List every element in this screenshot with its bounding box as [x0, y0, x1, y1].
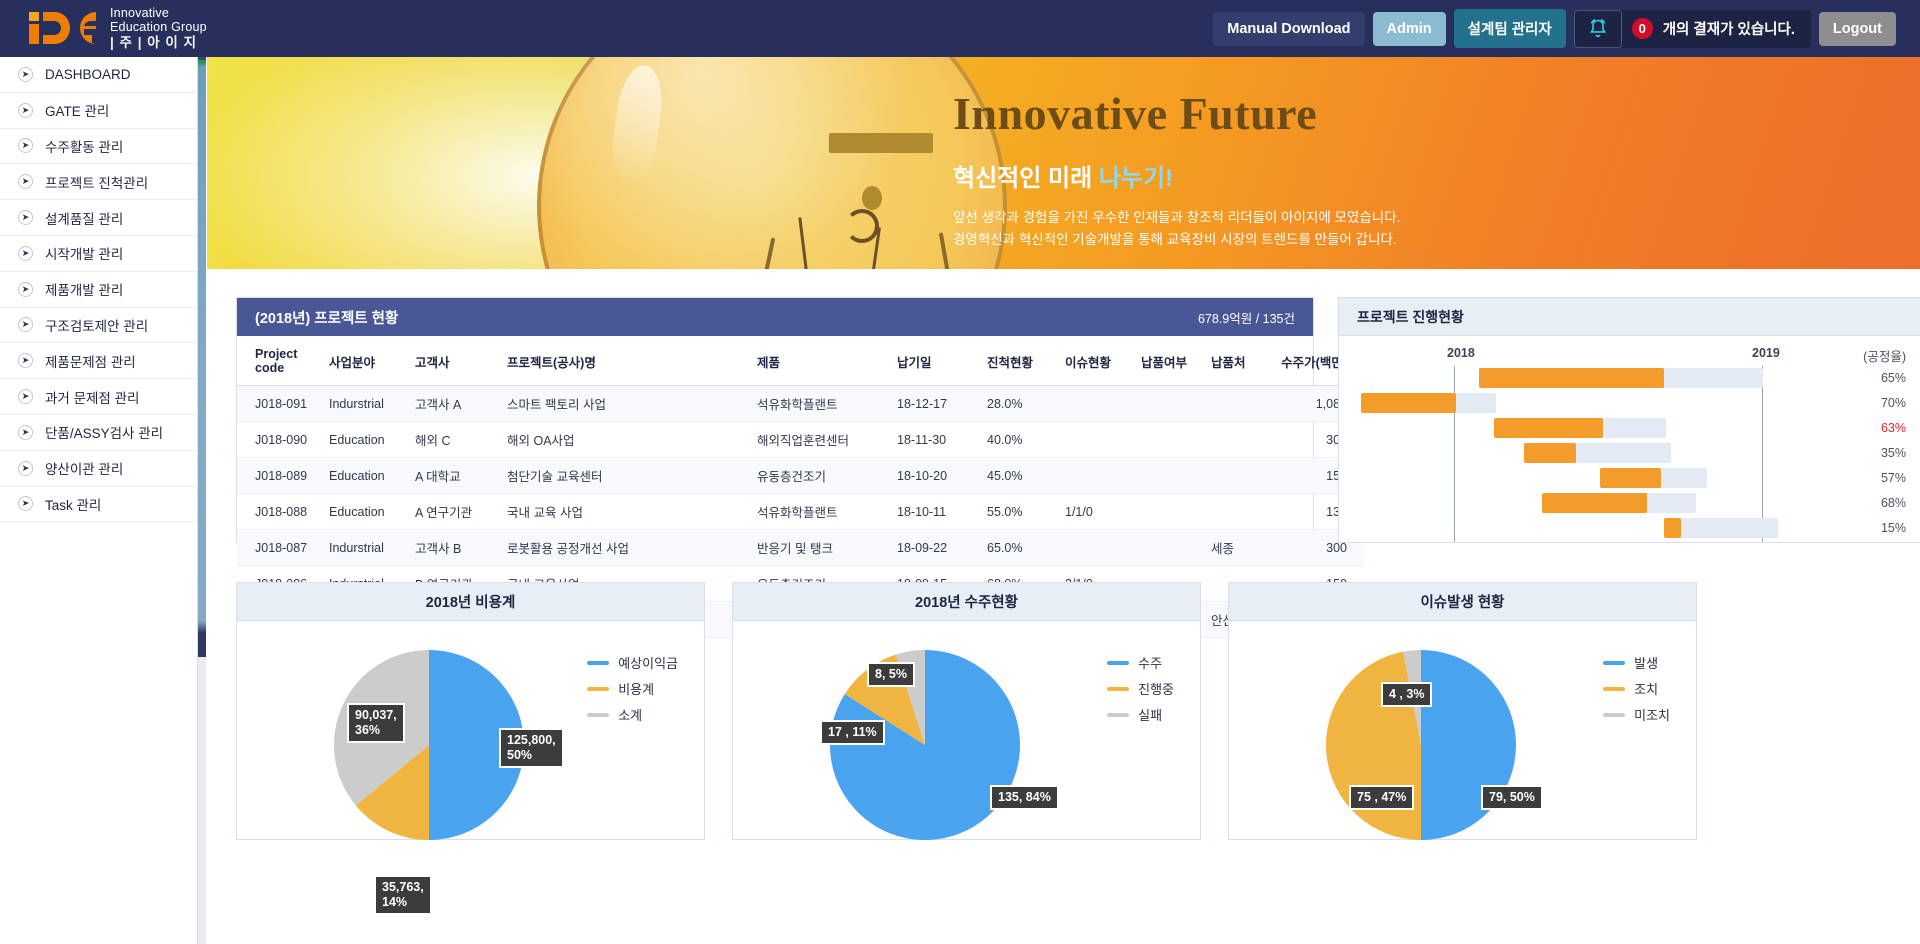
cell-code: J018-090 [237, 422, 329, 458]
cell-due: 18-11-30 [897, 422, 987, 458]
banner-subheading-accent: 나누기! [1099, 165, 1173, 192]
sidebar-item-7[interactable]: ➤구조검토제안 관리 [0, 308, 197, 344]
sidebar-item-label: 시작개발 관리 [45, 243, 123, 263]
cell-due: 18-10-11 [897, 494, 987, 530]
issues-pie-body: 79, 50%75 , 47%4 , 3%발생조치미조치 [1229, 621, 1696, 840]
admin-button[interactable]: Admin [1373, 12, 1446, 46]
main-sidebar-nav: ➤DASHBOARD➤GATE 관리➤수주활동 관리➤프로젝트 진척관리➤설계품… [0, 57, 198, 944]
sidebar-item-label: Task 관리 [45, 494, 101, 514]
chevron-right-icon: ➤ [18, 103, 33, 118]
cell-progress: 65.0% [987, 530, 1065, 566]
chevron-right-icon: ➤ [18, 353, 33, 368]
pie-data-label: 90,037, 36% [347, 703, 405, 743]
brand-logo[interactable]: Innovative Education Group | 주 | 아 이 지 [0, 6, 207, 50]
cell-delivered [1141, 530, 1211, 566]
legend-item[interactable]: 소계 [587, 705, 678, 724]
chevron-right-icon: ➤ [18, 389, 33, 404]
legend-item[interactable]: 발생 [1603, 653, 1670, 672]
chevron-right-icon: ➤ [18, 425, 33, 440]
cell-product: 반응기 및 탱크 [757, 530, 897, 566]
banner-subheading-main: 혁신적인 미래 [953, 165, 1099, 192]
sidebar-item-label: 제품개발 관리 [45, 279, 123, 299]
cell-project: 국내 교육 사업 [507, 494, 757, 530]
lightbulb-filament-coil [845, 209, 879, 243]
sidebar-item-12[interactable]: ➤Task 관리 [0, 487, 197, 523]
legend-label: 수주 [1138, 653, 1162, 672]
legend-label: 발생 [1634, 653, 1658, 672]
manual-download-button[interactable]: Manual Download [1213, 12, 1364, 46]
banner-paragraph-line-1: 앞선 생각과 경험을 가진 우수한 인재들과 창조적 리더들이 아이지에 모였습… [953, 210, 1400, 225]
gantt-bar-fill[interactable] [1600, 468, 1661, 488]
chevron-right-icon: ➤ [18, 138, 33, 153]
chevron-right-icon: ➤ [18, 496, 33, 511]
gantt-progress-label: 57% [1856, 471, 1906, 485]
gantt-chart: 2018 2019 (공정율) 65%70%63%35%57%68%15% [1339, 336, 1920, 542]
cell-place [1211, 422, 1273, 458]
legend-label: 진행중 [1138, 679, 1174, 698]
table-row[interactable]: J018-090Education해외 C해외 OA사업해외직업훈련센터18-1… [237, 422, 1365, 458]
orders-pie-body: 135, 84%17 , 11%8, 5%수주진행중실패 [733, 621, 1200, 840]
legend-label: 실패 [1138, 705, 1162, 724]
gantt-panel-header: 프로젝트 진행현황 [1339, 298, 1920, 336]
gantt-progress-label: 15% [1856, 521, 1906, 535]
sidebar-scrollbar-thumb[interactable] [198, 57, 206, 657]
cell-project: 첨단기술 교육센터 [507, 458, 757, 494]
cell-delivered [1141, 458, 1211, 494]
cell-product: 석유화학플랜트 [757, 386, 897, 422]
chevron-right-icon: ➤ [18, 246, 33, 261]
cell-field: Indurstrial [329, 530, 415, 566]
cell-field: Indurstrial [329, 386, 415, 422]
sidebar-item-6[interactable]: ➤제품개발 관리 [0, 272, 197, 308]
legend-swatch [1603, 661, 1625, 665]
legend-swatch [587, 661, 609, 665]
approval-message: 개의 결재가 있습니다. [1663, 18, 1795, 39]
approval-count-badge: 0 [1632, 18, 1653, 39]
table-row[interactable]: J018-091Indurstrial고객사 A스마트 팩토리 사업석유화학플랜… [237, 386, 1365, 422]
banner-copy: Innovative Future 혁신적인 미래 나누기! 앞선 생각과 경험… [953, 87, 1400, 251]
design-team-manager-button[interactable]: 설계팀 관리자 [1454, 9, 1566, 48]
legend-label: 예상이익금 [618, 653, 678, 672]
cell-customer: A 대학교 [415, 458, 507, 494]
issues-pie-title: 이슈발생 현황 [1229, 583, 1696, 621]
cell-project: 스마트 팩토리 사업 [507, 386, 757, 422]
cell-progress: 28.0% [987, 386, 1065, 422]
legend-item[interactable]: 수주 [1107, 653, 1174, 672]
gantt-progress-label: 68% [1856, 496, 1906, 510]
cell-issue [1065, 422, 1141, 458]
gantt-axis-label-end: 2019 [1752, 346, 1780, 360]
sidebar-item-10[interactable]: ➤단품/ASSY검사 관리 [0, 415, 197, 451]
sidebar-item-label: 수주활동 관리 [45, 136, 123, 156]
cell-product: 해외직업훈련센터 [757, 422, 897, 458]
lightbulb-contact-dot [862, 186, 882, 210]
cell-customer: A 연구기관 [415, 494, 507, 530]
sidebar-item-label: 제품문제점 관리 [45, 351, 136, 371]
orders-pie-panel: 2018년 수주현황 135, 84%17 , 11%8, 5%수주진행중실패 [732, 582, 1201, 840]
cell-code: J018-088 [237, 494, 329, 530]
legend-label: 미조치 [1634, 705, 1670, 724]
chevron-right-icon: ➤ [18, 210, 33, 225]
sidebar-item-label: DASHBOARD [45, 67, 131, 82]
legend-item[interactable]: 조치 [1603, 679, 1670, 698]
gantt-progress-label: 70% [1856, 396, 1906, 410]
cell-field: Education [329, 458, 415, 494]
cell-delivered [1141, 422, 1211, 458]
cell-field: Education [329, 494, 415, 530]
orders-pie-title: 2018년 수주현황 [733, 583, 1200, 621]
pie-data-label: 8, 5% [867, 662, 915, 687]
banner-paragraph-line-2: 경영혁신과 혁신적인 기술개발을 통해 교육장비 시장의 트렌드를 만들어 갑니… [953, 232, 1397, 247]
column-header-due: 납기일 [897, 336, 987, 386]
sidebar-item-label: 프로젝트 진척관리 [45, 172, 148, 192]
sidebar-item-9[interactable]: ➤과거 문제점 관리 [0, 379, 197, 415]
gantt-panel-title: 프로젝트 진행현황 [1357, 307, 1464, 327]
legend-item[interactable]: 미조치 [1603, 705, 1670, 724]
cell-delivered [1141, 386, 1211, 422]
legend-swatch [1603, 687, 1625, 691]
chevron-right-icon: ➤ [18, 282, 33, 297]
pie-chart-svg [825, 640, 1035, 850]
legend-swatch [1107, 713, 1129, 717]
gantt-progress-label: 65% [1856, 371, 1906, 385]
cell-product: 석유화학플랜트 [757, 494, 897, 530]
project-panel-summary: 678.9억원 / 135건 [1198, 308, 1295, 327]
column-header-product: 제품 [757, 336, 897, 386]
project-panel-header: (2018년) 프로젝트 현황 678.9억원 / 135건 [237, 298, 1313, 336]
cell-product: 유동층건조기 [757, 458, 897, 494]
sidebar-item-1[interactable]: ➤GATE 관리 [0, 93, 197, 129]
table-row[interactable]: J018-087Indurstrial고객사 B로봇활용 공정개선 사업반응기 … [237, 530, 1365, 566]
cell-project: 로봇활용 공정개선 사업 [507, 530, 757, 566]
sidebar-item-label: 과거 문제점 관리 [45, 387, 139, 407]
legend-label: 소계 [618, 705, 642, 724]
cell-place [1211, 386, 1273, 422]
legend-item[interactable]: 예상이익금 [587, 653, 678, 672]
pie-data-label: 75 , 47% [1349, 785, 1414, 810]
logo-tagline-2: Education Group [110, 20, 207, 34]
gantt-gridline-2019 [1762, 366, 1763, 542]
cell-customer: 해외 C [415, 422, 507, 458]
legend-swatch [587, 687, 609, 691]
column-header-code: Project code [237, 336, 329, 386]
cell-code: J018-087 [237, 530, 329, 566]
sidebar-item-8[interactable]: ➤제품문제점 관리 [0, 343, 197, 379]
legend-swatch [1603, 713, 1625, 717]
sidebar-item-2[interactable]: ➤수주활동 관리 [0, 129, 197, 165]
top-header-bar: Innovative Education Group | 주 | 아 이 지 M… [0, 0, 1920, 57]
cost-pie-panel: 2018년 비용계 125,800, 50%35,763, 14%90,037,… [236, 582, 705, 840]
cell-customer: 고객사 A [415, 386, 507, 422]
column-header-customer: 고객사 [415, 336, 507, 386]
pie-legend: 발생조치미조치 [1603, 653, 1670, 731]
lightbulb-contact-bar [829, 133, 933, 153]
chevron-right-icon: ➤ [18, 67, 33, 82]
sidebar-item-label: 구조검토제안 관리 [45, 315, 148, 335]
column-header-issue: 이슈현황 [1065, 336, 1141, 386]
cell-place [1211, 494, 1273, 530]
cell-code: J018-089 [237, 458, 329, 494]
sidebar-item-label: 설계품질 관리 [45, 208, 123, 228]
legend-item[interactable]: 실패 [1107, 705, 1174, 724]
sidebar-item-0[interactable]: ➤DASHBOARD [0, 57, 197, 93]
logout-button[interactable]: Logout [1819, 12, 1896, 46]
column-header-field: 사업분야 [329, 336, 415, 386]
legend-item[interactable]: 비용계 [587, 679, 678, 698]
chevron-right-icon: ➤ [18, 174, 33, 189]
cell-project: 해외 OA사업 [507, 422, 757, 458]
project-panel-title: (2018년) 프로젝트 현황 [255, 307, 398, 328]
logo-tagline-1: Innovative [110, 6, 207, 20]
cell-place: 세종 [1211, 530, 1273, 566]
issues-pie-panel: 이슈발생 현황 79, 50%75 , 47%4 , 3%발생조치미조치 [1228, 582, 1697, 840]
pie-data-label: 79, 50% [1481, 785, 1543, 810]
sidebar-item-label: 단품/ASSY검사 관리 [45, 422, 163, 442]
gantt-progress-label: 35% [1856, 446, 1906, 460]
cell-issue [1065, 458, 1141, 494]
sidebar-item-5[interactable]: ➤시작개발 관리 [0, 236, 197, 272]
legend-item[interactable]: 진행중 [1107, 679, 1174, 698]
cell-customer: 고객사 B [415, 530, 507, 566]
sidebar-item-label: GATE 관리 [45, 100, 109, 120]
gantt-progress-label: 63% [1856, 421, 1906, 435]
legend-swatch [1107, 687, 1129, 691]
column-header-place: 납품처 [1211, 336, 1273, 386]
pie-data-label: 125,800, 50% [499, 728, 564, 768]
cell-progress: 55.0% [987, 494, 1065, 530]
sidebar-item-label: 양산이관 관리 [45, 458, 123, 478]
cell-issue: 1/1/0 [1065, 494, 1141, 530]
project-progress-panel: 프로젝트 진행현황 2018 2019 (공정율) 65%70%63%35%57… [1338, 297, 1920, 543]
column-header-delivered: 납품여부 [1141, 336, 1211, 386]
sidebar-item-3[interactable]: ➤프로젝트 진척관리 [0, 164, 197, 200]
cell-issue [1065, 386, 1141, 422]
gantt-bar-fill[interactable] [1664, 518, 1681, 538]
legend-label: 조치 [1634, 679, 1658, 698]
header-actions: Manual Download Admin 설계팀 관리자 0 개의 결재가 있… [1213, 9, 1920, 48]
gantt-bar-fill[interactable] [1361, 393, 1456, 413]
table-row[interactable]: J018-088EducationA 연구기관국내 교육 사업석유화학플랜트18… [237, 494, 1365, 530]
gantt-bar-fill[interactable] [1494, 418, 1602, 438]
cell-due: 18-12-17 [897, 386, 987, 422]
banner-subheading: 혁신적인 미래 나누기! [953, 158, 1400, 193]
cell-issue [1065, 530, 1141, 566]
gantt-bar-track [1664, 518, 1778, 538]
pie-chart-svg [1321, 640, 1531, 850]
legend-swatch [587, 713, 609, 717]
pie-data-label: 17 , 11% [820, 720, 885, 745]
chevron-right-icon: ➤ [18, 317, 33, 332]
pie-slice[interactable] [1421, 650, 1516, 840]
pie-legend: 예상이익금비용계소계 [587, 653, 678, 731]
banner-paragraph: 앞선 생각과 경험을 가진 우수한 인재들과 창조적 리더들이 아이지에 모였습… [953, 207, 1400, 251]
cell-field: Education [329, 422, 415, 458]
cell-delivered [1141, 494, 1211, 530]
cell-code: J018-091 [237, 386, 329, 422]
sidebar-item-4[interactable]: ➤설계품질 관리 [0, 200, 197, 236]
approval-notification[interactable]: 0 개의 결재가 있습니다. [1574, 10, 1811, 48]
project-status-panel: (2018년) 프로젝트 현황 678.9억원 / 135건 Project c… [236, 297, 1314, 543]
gantt-bar-fill[interactable] [1479, 368, 1663, 388]
cell-due: 18-10-20 [897, 458, 987, 494]
sidebar-item-11[interactable]: ➤양산이관 관리 [0, 451, 197, 487]
gantt-axis-label-start: 2018 [1447, 346, 1475, 360]
legend-label: 비용계 [618, 679, 654, 698]
column-header-progress: 진척현황 [987, 336, 1065, 386]
cell-progress: 40.0% [987, 422, 1065, 458]
chevron-right-icon: ➤ [18, 461, 33, 476]
cell-due: 18-09-22 [897, 530, 987, 566]
bell-icon[interactable] [1574, 10, 1622, 48]
pie-slice[interactable] [1326, 652, 1421, 840]
sidebar-scrollbar-track[interactable] [198, 57, 206, 944]
cost-pie-body: 125,800, 50%35,763, 14%90,037, 36%예상이익금비… [237, 621, 704, 840]
gantt-unit-label: (공정율) [1863, 346, 1906, 365]
gantt-bar-fill[interactable] [1524, 443, 1575, 463]
table-row[interactable]: J018-089EducationA 대학교첨단기술 교육센터유동층건조기18-… [237, 458, 1365, 494]
cell-progress: 45.0% [987, 458, 1065, 494]
pie-data-label: 35,763, 14% [374, 875, 432, 915]
logo-tagline-3: | 주 | 아 이 지 [110, 35, 207, 50]
legend-swatch [1107, 661, 1129, 665]
pie-data-label: 4 , 3% [1381, 682, 1432, 707]
hero-banner: Innovative Future 혁신적인 미래 나누기! 앞선 생각과 경험… [207, 57, 1920, 269]
cost-pie-title: 2018년 비용계 [237, 583, 704, 621]
pie-data-label: 135, 84% [990, 785, 1059, 810]
gantt-bar-fill[interactable] [1542, 493, 1647, 513]
idg-logo-icon [28, 10, 100, 46]
cell-place [1211, 458, 1273, 494]
banner-heading: Innovative Future [953, 87, 1400, 140]
project-table-header-row: Project code사업분야고객사프로젝트(공사)명제품납기일진척현황이슈현… [237, 336, 1365, 386]
pie-legend: 수주진행중실패 [1107, 653, 1174, 731]
column-header-project: 프로젝트(공사)명 [507, 336, 757, 386]
